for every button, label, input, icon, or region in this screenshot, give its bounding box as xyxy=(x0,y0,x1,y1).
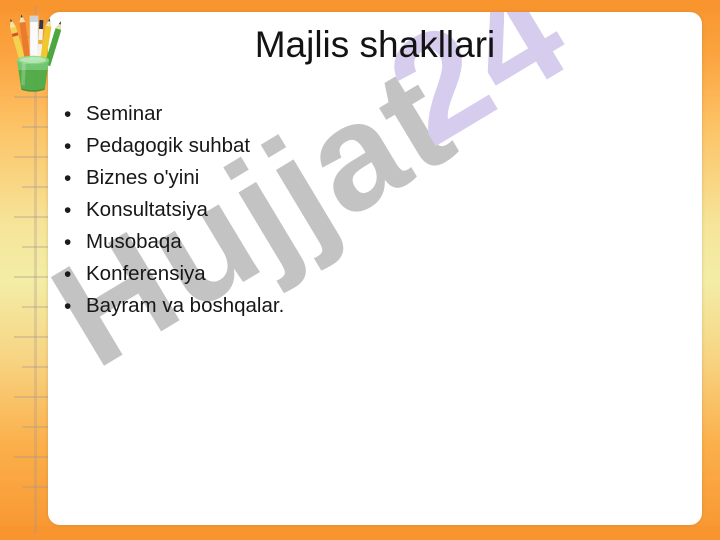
list-item: • Biznes o'yini xyxy=(62,162,662,194)
list-item: • Konferensiya xyxy=(62,258,662,290)
ruler-tick xyxy=(22,186,48,188)
page-title: Majlis shakllari xyxy=(48,24,702,66)
list-item: • Bayram va boshqalar. xyxy=(62,290,662,322)
ruler-tick xyxy=(14,336,48,338)
ruler-tick xyxy=(14,456,48,458)
bullet-point-icon: • xyxy=(62,200,86,221)
list-item: • Musobaqa xyxy=(62,226,662,258)
ruler-tick xyxy=(22,126,48,128)
bullet-point-icon: • xyxy=(62,232,86,253)
list-item-label: Musobaqa xyxy=(86,230,182,254)
ruler-tick xyxy=(22,306,48,308)
ruler-tick xyxy=(14,396,48,398)
slide: Hujjat 24 Majlis shakllari • Seminar • P… xyxy=(0,0,720,540)
bullet-point-icon: • xyxy=(62,104,86,125)
bullet-list: • Seminar • Pedagogik suhbat • Biznes o'… xyxy=(62,98,662,322)
slide-content-panel: Hujjat 24 Majlis shakllari • Seminar • P… xyxy=(48,12,702,525)
bullet-point-icon: • xyxy=(62,296,86,317)
list-item-label: Seminar xyxy=(86,102,162,126)
ruler-tick xyxy=(14,276,48,278)
bullet-point-icon: • xyxy=(62,136,86,157)
list-item-label: Pedagogik suhbat xyxy=(86,134,250,158)
list-item-label: Konsultatsiya xyxy=(86,198,208,222)
bullet-point-icon: • xyxy=(62,264,86,285)
bullet-point-icon: • xyxy=(62,168,86,189)
ruler-tick xyxy=(22,486,48,488)
list-item: • Seminar xyxy=(62,98,662,130)
list-item-label: Konferensiya xyxy=(86,262,206,286)
ruler-tick xyxy=(14,216,48,218)
ruler-tick xyxy=(22,246,48,248)
list-item-label: Bayram va boshqalar. xyxy=(86,294,284,318)
ruler-tick xyxy=(14,96,48,98)
list-item-label: Biznes o'yini xyxy=(86,166,199,190)
ruler-tick xyxy=(22,366,48,368)
list-item: • Pedagogik suhbat xyxy=(62,130,662,162)
ruler-tick xyxy=(14,156,48,158)
pencil-cup-icon xyxy=(5,8,61,94)
list-item: • Konsultatsiya xyxy=(62,194,662,226)
slide-frame-top-band xyxy=(0,0,720,12)
slide-frame-bottom-band xyxy=(0,526,720,540)
ruler-tick xyxy=(22,426,48,428)
